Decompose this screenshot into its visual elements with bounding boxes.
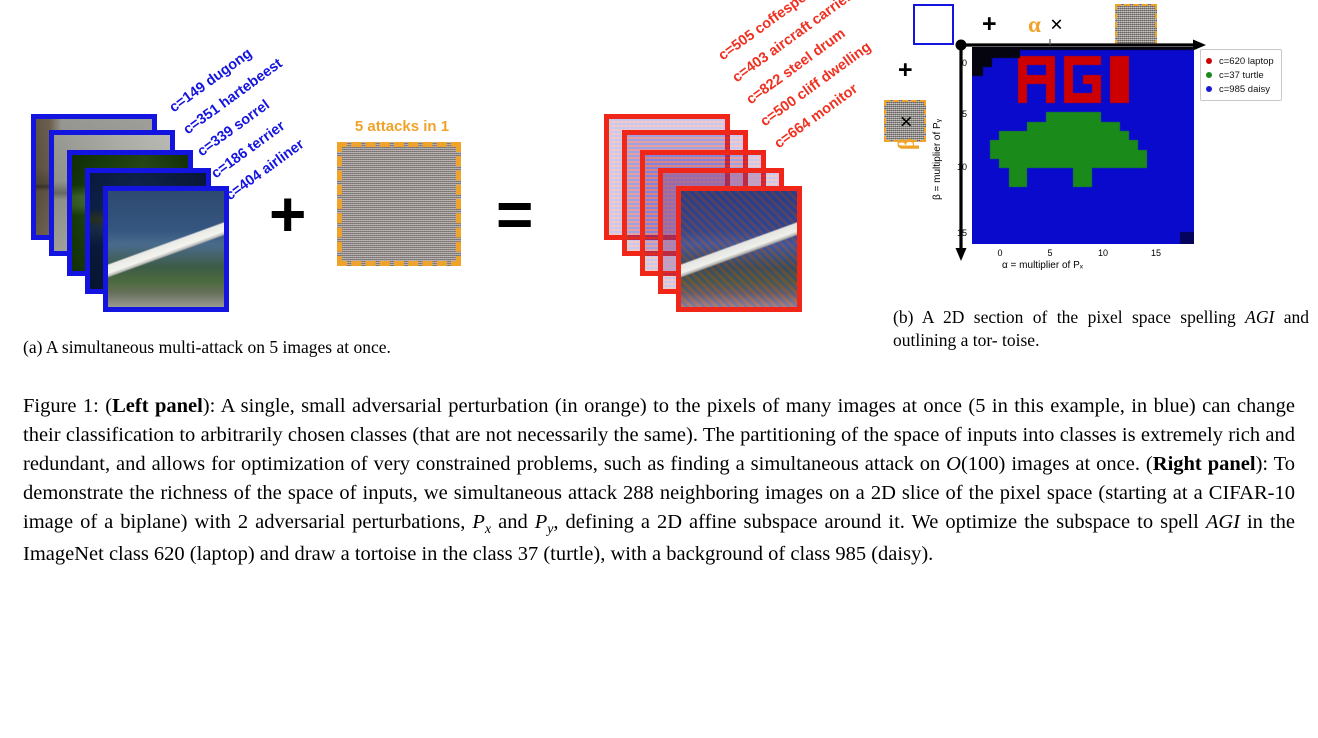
legend-item-turtle: c=37 turtle — [1206, 68, 1274, 82]
x-tick-5: 5 — [1043, 248, 1057, 258]
caption-py: P — [535, 511, 548, 533]
x-tick-0: 0 — [993, 248, 1007, 258]
caption-seg4: and — [491, 511, 535, 533]
x-axis-title: α = multiplier of Pₓ — [1002, 260, 1083, 271]
subcaption-b-line1: (b) A 2D section of the pixel space — [893, 307, 1171, 327]
caption-seg5: , defining a 2D affine subspace around i… — [553, 511, 1205, 533]
alpha-symbol: α — [1028, 12, 1041, 38]
caption-px: P — [472, 511, 485, 533]
legend-item-daisy: c=985 daisy — [1206, 82, 1274, 96]
original-image-5 — [103, 186, 229, 312]
caption-bold-right-panel: Right panel — [1153, 453, 1256, 475]
beta-symbol: β — [894, 138, 920, 150]
legend-dot-turtle-icon — [1206, 72, 1212, 78]
base-cifar-image — [913, 4, 954, 45]
x-tick-10: 10 — [1094, 248, 1112, 258]
figure-caption: Figure 1: (Left panel): A single, small … — [23, 392, 1295, 569]
figure-1: c=149 dugong c=351 hartebeest c=339 sorr… — [0, 0, 1318, 368]
plus-beta-operator: + — [898, 58, 913, 83]
plus-operator: + — [269, 182, 306, 246]
legend-label-laptop: c=620 laptop — [1219, 56, 1274, 67]
plus-alpha-operator: + — [982, 12, 997, 37]
y-tick-15: 15 — [950, 228, 967, 238]
caption-bigO: O — [946, 453, 961, 475]
panel-a-multi-attack: c=149 dugong c=351 hartebeest c=339 sorr… — [0, 0, 880, 368]
heatmap-canvas — [972, 47, 1194, 244]
attacked-image-5 — [676, 186, 802, 312]
caption-bold-left-panel: Left panel — [112, 395, 203, 417]
legend-dot-laptop-icon — [1206, 58, 1212, 64]
legend-label-turtle: c=37 turtle — [1219, 70, 1264, 81]
legend-label-daisy: c=985 daisy — [1219, 84, 1270, 95]
subcaption-b-line2-pre: spelling — [1180, 307, 1245, 327]
y-tick-5: 5 — [955, 109, 967, 119]
attacks-in-one-label: 5 attacks in 1 — [337, 118, 467, 135]
x-tick-15: 15 — [1147, 248, 1165, 258]
caption-prefix: Figure 1: ( — [23, 395, 112, 417]
caption-agi: AGI — [1206, 511, 1240, 533]
subcaption-b-line3: toise. — [1002, 330, 1039, 350]
y-tick-10: 10 — [950, 162, 967, 172]
legend-item-laptop: c=620 laptop — [1206, 54, 1274, 68]
subcaption-b: (b) A 2D section of the pixel space spel… — [893, 306, 1309, 353]
y-axis-title: β = multiplier of Pᵧ — [932, 119, 943, 200]
legend-dot-daisy-icon — [1206, 86, 1212, 92]
perturbation-px-thumb — [1115, 4, 1157, 46]
beta-times-symbol: × — [894, 115, 920, 128]
subcaption-b-agi: AGI — [1245, 307, 1274, 327]
equals-operator: = — [496, 182, 533, 246]
pixel-space-heatmap — [972, 47, 1194, 244]
adversarial-perturbation-patch — [337, 142, 461, 266]
y-tick-0: 0 — [955, 58, 967, 68]
chart-legend: c=620 laptop c=37 turtle c=985 daisy — [1200, 49, 1282, 101]
caption-seg2: (100) images at once. ( — [961, 453, 1153, 475]
subcaption-a: (a) A simultaneous multi-attack on 5 ima… — [23, 336, 583, 359]
alpha-times-symbol: × — [1050, 12, 1063, 38]
